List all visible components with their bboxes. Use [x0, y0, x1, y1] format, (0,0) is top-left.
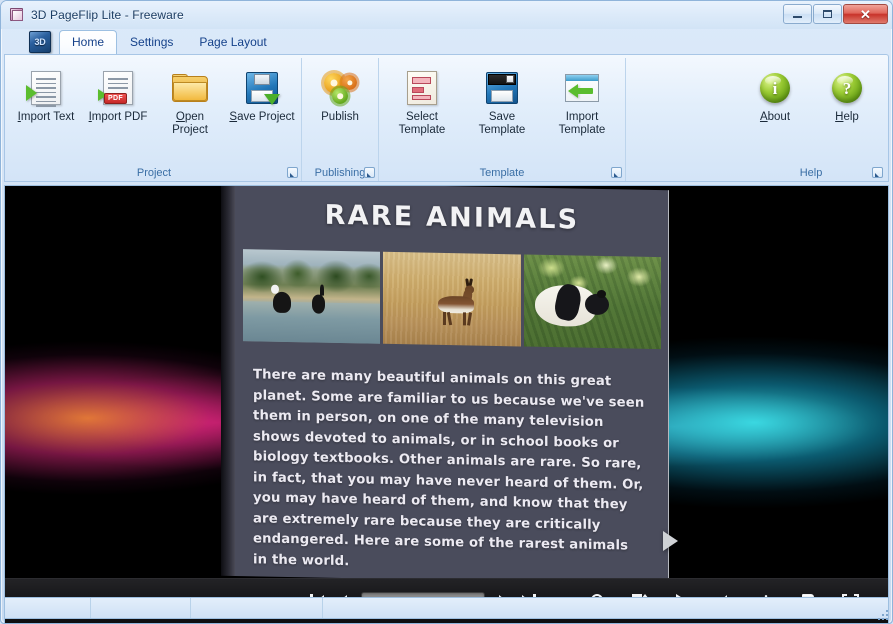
group-label-project: Project	[7, 164, 301, 181]
book-spine	[221, 185, 235, 576]
help-label: Help	[835, 111, 859, 124]
page-right-edge	[668, 186, 669, 584]
group-label-publishing: Publishing	[302, 164, 378, 181]
status-segment-2	[91, 598, 191, 618]
save-floppy-icon	[246, 68, 278, 108]
tab-page-layout-label: Page Layout	[199, 35, 266, 49]
app-menu-button[interactable]: 3D	[25, 30, 55, 54]
publishing-dialog-launcher[interactable]	[364, 167, 375, 178]
about-button[interactable]: i About	[739, 61, 811, 164]
next-page-flip-arrow[interactable]	[663, 531, 678, 551]
select-template-label: Select Template	[399, 111, 446, 137]
save-template-label: Save Template	[479, 111, 526, 137]
status-bar	[4, 597, 889, 619]
status-segment-3	[191, 598, 323, 618]
import-pdf-button[interactable]: PDF Import PDF	[82, 61, 154, 164]
maximize-button[interactable]	[813, 4, 842, 24]
group-label-help: Help	[736, 164, 886, 181]
about-info-orb-icon: i	[760, 68, 790, 108]
open-project-button[interactable]: Open Project	[154, 61, 226, 164]
import-template-button[interactable]: Import Template	[542, 61, 622, 164]
ribbon-group-help: i About ? Help Help	[736, 58, 886, 181]
save-template-button[interactable]: Save Template	[462, 61, 542, 164]
close-icon: ✕	[860, 8, 871, 21]
resize-grip[interactable]	[875, 607, 888, 620]
import-pdf-label: Import PDF	[89, 111, 148, 124]
black-necked-storks-photo	[243, 249, 380, 344]
tab-home-label: Home	[72, 35, 104, 49]
close-button[interactable]: ✕	[843, 4, 888, 24]
save-project-label: Save Project	[229, 111, 294, 124]
page-heading: RARE ANIMALS	[235, 185, 669, 237]
import-text-button[interactable]: Import Text	[10, 61, 82, 164]
window-controls: ✕	[783, 4, 888, 24]
ribbon-group-template: Select Template Save	[379, 58, 626, 181]
publish-button[interactable]: Publish	[305, 61, 375, 164]
maximize-icon	[823, 10, 832, 18]
book-page-wrapper: RARE ANIMALS	[221, 185, 669, 584]
blackbuck-antelope-photo	[383, 252, 520, 347]
import-pdf-icon: PDF	[103, 68, 133, 108]
help-button[interactable]: ? Help	[811, 61, 883, 164]
book-page[interactable]: RARE ANIMALS	[235, 185, 669, 584]
template-dialog-launcher[interactable]	[611, 167, 622, 178]
tab-page-layout[interactable]: Page Layout	[186, 30, 279, 54]
minimize-button[interactable]	[783, 4, 812, 24]
application-window: 3D PageFlip Lite - Freeware ✕ 3D Home Se…	[0, 0, 893, 624]
status-segment-4	[323, 598, 888, 618]
status-segment-1	[5, 598, 91, 618]
ribbon-tabstrip: 3D Home Settings Page Layout	[1, 29, 892, 54]
giant-panda-photo	[524, 255, 661, 350]
import-template-label: Import Template	[559, 111, 606, 137]
tab-home[interactable]: Home	[59, 30, 117, 54]
help-dialog-launcher[interactable]	[872, 167, 883, 178]
save-template-icon	[486, 68, 518, 108]
select-template-button[interactable]: Select Template	[382, 61, 462, 164]
page-photo-strip	[243, 249, 661, 349]
app-book-icon	[9, 7, 25, 23]
save-project-button[interactable]: Save Project	[226, 61, 298, 164]
import-template-icon	[565, 68, 599, 108]
project-dialog-launcher[interactable]	[287, 167, 298, 178]
book-viewer[interactable]: RARE ANIMALS	[4, 185, 889, 624]
select-template-icon	[407, 68, 437, 108]
ribbon-group-project: Import Text PDF Import PDF	[7, 58, 302, 181]
publish-label: Publish	[321, 111, 359, 124]
open-folder-icon	[172, 68, 208, 108]
about-label: About	[760, 111, 790, 124]
minimize-icon	[793, 16, 802, 18]
window-title: 3D PageFlip Lite - Freeware	[31, 8, 184, 22]
page-body-text: There are many beautiful animals on this…	[235, 341, 669, 578]
app-button-label: 3D	[35, 37, 46, 47]
import-text-label: Import Text	[18, 111, 75, 124]
import-text-icon	[31, 68, 61, 108]
publish-gears-icon	[323, 68, 357, 108]
open-project-label: Open Project	[157, 111, 223, 137]
tab-settings[interactable]: Settings	[117, 30, 186, 54]
tab-settings-label: Settings	[130, 35, 173, 49]
help-question-orb-icon: ?	[832, 68, 862, 108]
ribbon-panel: Import Text PDF Import PDF	[4, 54, 889, 182]
ribbon-group-publishing: Publish Publishing	[302, 58, 379, 181]
group-label-template: Template	[379, 164, 625, 181]
title-bar: 3D PageFlip Lite - Freeware ✕	[1, 1, 892, 29]
